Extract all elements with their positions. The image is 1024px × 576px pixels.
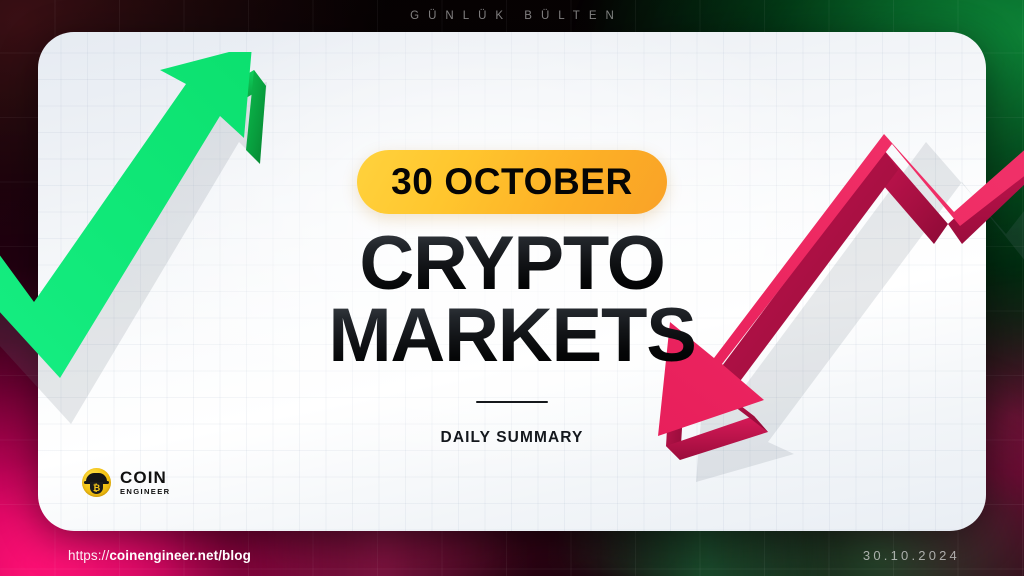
footer-url-protocol: https:// xyxy=(68,548,109,563)
brand-name-secondary: ENGINEER xyxy=(120,488,170,496)
brand-logo[interactable]: ₿ COIN ENGINEER xyxy=(82,468,170,497)
footer-url[interactable]: https://coinengineer.net/blog xyxy=(68,548,251,563)
title-divider xyxy=(476,401,548,404)
bitcoin-icon: ₿ xyxy=(93,484,101,493)
date-badge: 30 OCTOBER xyxy=(357,150,667,214)
page-title-line-2: MARKETS xyxy=(328,302,695,370)
brand-logo-text: COIN ENGINEER xyxy=(120,469,170,496)
card-content: 30 OCTOBER CRYPTO MARKETS DAILY SUMMARY xyxy=(0,0,1024,447)
poster-canvas: GÜNLÜK BÜLTEN xyxy=(0,0,1024,576)
brand-name-primary: COIN xyxy=(120,469,170,486)
eyebrow-label: GÜNLÜK BÜLTEN xyxy=(0,10,1024,22)
page-title: CRYPTO MARKETS xyxy=(328,230,695,371)
date-badge-label: 30 OCTOBER xyxy=(391,163,633,200)
page-title-line-1: CRYPTO xyxy=(328,230,695,298)
footer-url-domain: coinengineer.net/blog xyxy=(109,548,251,563)
coin-engineer-mark-icon: ₿ xyxy=(82,468,111,497)
page-subtitle: DAILY SUMMARY xyxy=(441,429,584,447)
footer-date: 30.10.2024 xyxy=(863,548,960,563)
